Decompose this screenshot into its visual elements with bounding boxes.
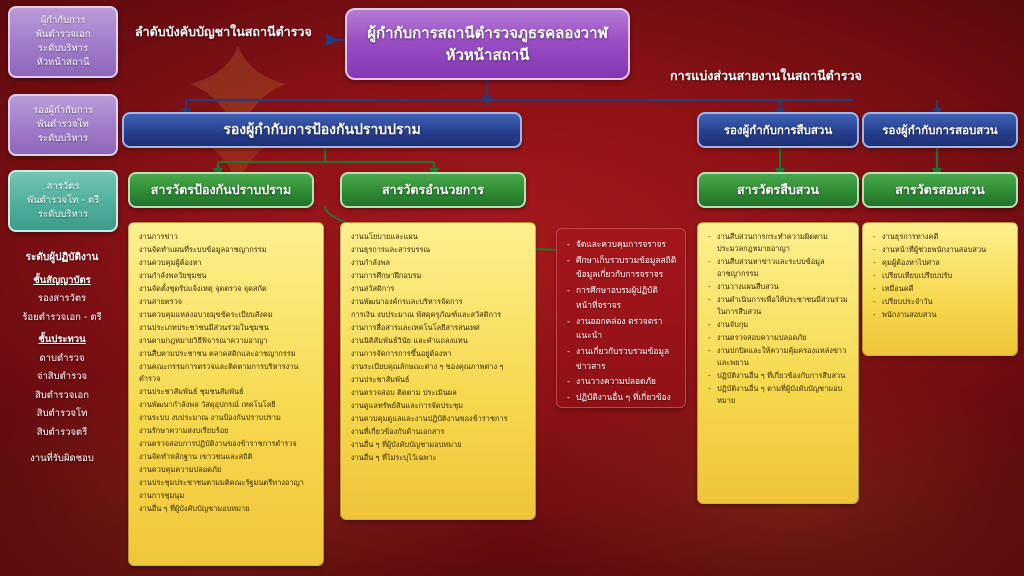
left-list-header: ระดับผู้ปฏิบัติงาน	[6, 248, 118, 268]
investigation-item: งานปกปิดและให้ความคุ้มครองแหล่งข่าวและพย…	[708, 345, 850, 369]
prevention-item: งานควบคุมความปลอดภัย	[139, 464, 315, 476]
prevention-item: งานจัดทำแผนที่ระบบข้อมูลอาชญากรรม	[139, 244, 315, 256]
rank-1-line-1: ผู้กำกับการ	[41, 14, 86, 28]
left-operator-list: ระดับผู้ปฏิบัติงาน ชั้นสัญญาบัตร รองสารว…	[6, 248, 118, 469]
left-list-s2-item-2: สิบตำรวจเอก	[6, 387, 118, 406]
admin-item: งานพัฒนาองค์กรและบริหารจัดการ	[351, 296, 527, 308]
chief-line2: หัวหน้าสถานี	[446, 44, 530, 67]
left-list-s2-item-1: จ่าสิบตำรวจ	[6, 368, 118, 387]
prevention-item: งานประชุมประชาชนตามมติคณะรัฐมนตรีทางอาญา	[139, 477, 315, 489]
panel-traffic-tasks: จัดและควบคุมการจราจร ศึกษาเก็บรวบรวมข้อม…	[556, 228, 686, 408]
prevention-item: งานควบคุมผู้ต้องหา	[139, 257, 315, 269]
inquiry-item: พนักงานสอบสวน	[873, 309, 1009, 321]
admin-item: งานการสื่อสารและเทคโนโลยีสารสนเทศ	[351, 322, 527, 334]
node-deputy-inquiry[interactable]: รองผู้กำกับการสอบสวน	[862, 112, 1018, 148]
chief-line1: ผู้กำกับการสถานีตำรวจภูธรคลองวาฬ	[367, 22, 608, 45]
label-chain-of-command: ลำดับบังคับบัญชาในสถานีตำรวจ	[135, 22, 312, 42]
node-inspector-admin[interactable]: สารวัตรอำนวยการ	[340, 172, 526, 208]
admin-item: งานอื่น ๆ ที่ผู้บังคับบัญชามอบหมาย	[351, 439, 527, 451]
prevention-item: งานอื่น ๆ ที่ผู้บังคับบัญชามอบหมาย	[139, 503, 315, 515]
admin-item: งานระเบียบคุณลักษณะต่าง ๆ ของคุณภาพต่าง …	[351, 361, 527, 373]
panel-admin-tasks: งานนโยบายและแผน งานธุรการและสารบรรณ งานก…	[340, 222, 536, 520]
admin-item: งานการศึกษาฝึกอบรม	[351, 270, 527, 282]
investigation-item: ปฏิบัติงานอื่น ๆ ตามที่ผู้บังคับบัญชามอบ…	[708, 383, 850, 407]
prevention-item: งานการข่าว	[139, 231, 315, 243]
admin-item: งานตรวจสอบ ติดตาม ประเมินผล	[351, 387, 527, 399]
prevention-item: งานจัดทำหลักฐาน เขาวชนและสถิติ	[139, 451, 315, 463]
prevention-item: งานประเภทประชาชนมีส่วนร่วมในชุมชน	[139, 322, 315, 334]
admin-item: งานนิติสัมพันธ์วินัย และคำแถลงแทน	[351, 335, 527, 347]
rank-1-line-2: พันตำรวจเอก	[36, 28, 91, 42]
traffic-item: ปฏิบัติงานอื่น ๆ ที่เกี่ยวข้องกับงานจราจ…	[567, 390, 677, 408]
admin-item: งานนโยบายและแผน	[351, 231, 527, 243]
left-list-s2-item-3: สิบตำรวจโท	[6, 405, 118, 424]
rank-2-line-3: ระดับบริหาร	[38, 132, 88, 146]
investigation-task-list: งานสืบสวนการกระทำความผิดตามประมวลกฎหมายอ…	[708, 231, 850, 407]
node-deputy-investigation[interactable]: รองผู้กำกับการสืบสวน	[697, 112, 859, 148]
inquiry-item: เหมือนคดี	[873, 283, 1009, 295]
traffic-item: งานเกี่ยวกับรวบรวมข้อมูลข่าวสาร	[567, 344, 677, 373]
admin-item: งานธุรการและสารบรรณ	[351, 244, 527, 256]
prevention-item: งานจัดตั้งชุดรับแจ้งเหตุ จุดตรวจ จุดสกัด	[139, 283, 315, 295]
prevention-item: งานตรวจสอบการปฏิบัติงานของข้าราชการตำรวจ	[139, 438, 315, 450]
left-list-s2-item-4: สิบตำรวจตรี	[6, 424, 118, 443]
left-list-section2-title: ชั้นประทวน	[6, 331, 118, 350]
left-list-footer: งานที่รับผิดชอบ	[6, 450, 118, 469]
investigation-item: งานดำเนินการเพื่อให้ประชาชนมีส่วนร่วมในก…	[708, 294, 850, 318]
panel-inquiry-tasks: งานธุรการทางคดี งานหน้าที่ผู้ช่วยพนักงาน…	[862, 222, 1018, 356]
prevention-item: งานคณะกรรมการตรวจและติดตามการบริหารงานตำ…	[139, 361, 315, 385]
node-inspector-inquiry[interactable]: สารวัตรสอบสวน	[862, 172, 1018, 208]
rank-3-line-3: ระดับบริหาร	[38, 208, 88, 222]
rank-2-line-2: พันตำรวจโท	[37, 118, 89, 132]
prevention-item: งานสายตรวจ	[139, 296, 315, 308]
admin-item: งานควบคุมดูแลและงานปฏิบัติงานของข้าราชกา…	[351, 413, 527, 425]
label-division-of-work: การแบ่งส่วนสายงานในสถานีตำรวจ	[670, 66, 862, 86]
inquiry-item: เปรียบเทียบเปรียบปรับ	[873, 270, 1009, 282]
admin-item: งานประชาสัมพันธ์	[351, 374, 527, 386]
inquiry-task-list: งานธุรการทางคดี งานหน้าที่ผู้ช่วยพนักงาน…	[873, 231, 1009, 321]
traffic-item: งานออกคล่อง ตรวจตรา แนะนำ	[567, 314, 677, 343]
node-inspector-investigation[interactable]: สารวัตรสืบสวน	[697, 172, 859, 208]
admin-item: การเงิน งบประมาณ พัสดุครุภัณฑ์และสวัสดิก…	[351, 309, 527, 321]
prevention-item: งานสืบตามประชาชน ตลาดสดิกและอาชญากรรม	[139, 348, 315, 360]
prevention-item: งานประชาสัมพันธ์ ชุมชนสัมพันธ์	[139, 386, 315, 398]
investigation-item: งานตรวจสอบความปลอดภัย	[708, 332, 850, 344]
rank-1-line-4: หัวหน้าสถานี	[36, 56, 89, 70]
investigation-item: งานจับกุม	[708, 319, 850, 331]
prevention-task-list: งานการข่าว งานจัดทำแผนที่ระบบข้อมูลอาชญา…	[139, 231, 315, 515]
panel-investigation-tasks: งานสืบสวนการกระทำความผิดตามประมวลกฎหมายอ…	[697, 222, 859, 504]
left-list-s1-item-0: รองสารวัตร	[6, 290, 118, 309]
investigation-item: งานวางแผนสืบสวน	[708, 281, 850, 293]
investigation-item: งานสืบสวนหาข่าวและระบบข้อมูลอาชญากรรม	[708, 256, 850, 280]
node-inspector-prevention[interactable]: สารวัตรป้องกันปราบปราม	[128, 172, 314, 208]
prevention-item: งานพัฒนากำลังพล วัสดุอุปกรณ์ เทคโนโลยี	[139, 399, 315, 411]
left-list-s2-item-0: ดาบตำรวจ	[6, 350, 118, 369]
prevention-item: งานควบคุมแหล่งอบายมุขขัดระเบียบสังคม	[139, 309, 315, 321]
inquiry-item: งานธุรการทางคดี	[873, 231, 1009, 243]
prevention-item: งานตามกฎหมายวิธีพิจารณาความอาญา	[139, 335, 315, 347]
traffic-task-list: จัดและควบคุมการจราจร ศึกษาเก็บรวบรวมข้อม…	[567, 237, 677, 408]
admin-item: งานดูแลทรัพย์สินและการจัดประชุม	[351, 400, 527, 412]
rank-1-line-3: ระดับบริหาร	[38, 42, 88, 56]
traffic-item: ศึกษาเก็บรวบรวมข้อมูลสถิติข้อมูลเกี่ยวกั…	[567, 253, 677, 282]
admin-item: งานอื่น ๆ ที่ไม่ระบุไว้เฉพาะ	[351, 452, 527, 464]
node-rank-1[interactable]: ผู้กำกับการ พันตำรวจเอก ระดับบริหาร หัวห…	[8, 6, 118, 78]
node-rank-2[interactable]: รองผู้กำกับการ พันตำรวจโท ระดับบริหาร	[8, 94, 118, 156]
admin-item: งานกำลังพล	[351, 257, 527, 269]
left-list-section1-title: ชั้นสัญญาบัตร	[6, 272, 118, 291]
prevention-item: งานรักษาความสงบเรียบร้อย	[139, 425, 315, 437]
node-chief[interactable]: ผู้กำกับการสถานีตำรวจภูธรคลองวาฬ หัวหน้า…	[345, 8, 630, 80]
rank-3-line-2: พันตำรวจโท - ตรี	[27, 194, 99, 208]
panel-prevention-tasks: งานการข่าว งานจัดทำแผนที่ระบบข้อมูลอาชญา…	[128, 222, 324, 566]
rank-3-line-1: สารวัตร	[47, 180, 80, 194]
node-deputy-prevention[interactable]: รองผู้กำกับการป้องกันปราบปราม	[122, 112, 522, 148]
admin-item: งานที่เกี่ยวข้องกับด้านเอกสาร	[351, 426, 527, 438]
rank-2-line-1: รองผู้กำกับการ	[33, 104, 93, 118]
prevention-item: งานระบบ งบประมาณ งานป้องกันปราบปราม	[139, 412, 315, 424]
investigation-item: งานสืบสวนการกระทำความผิดตามประมวลกฎหมายอ…	[708, 231, 850, 255]
inquiry-item: เปรียบประจำวัน	[873, 296, 1009, 308]
left-list-s1-item-1: ร้อยตำรวจเอก - ตรี	[6, 309, 118, 328]
node-rank-3[interactable]: สารวัตร พันตำรวจโท - ตรี ระดับบริหาร	[8, 170, 118, 232]
inquiry-item: คุมผู้ต้องหาไปศาล	[873, 257, 1009, 269]
investigation-item: ปฏิบัติงานอื่น ๆ ที่เกี่ยวข้องกับการสืบส…	[708, 370, 850, 382]
admin-item: งานสวัสดิการ	[351, 283, 527, 295]
traffic-item: จัดและควบคุมการจราจร	[567, 237, 677, 252]
traffic-item: การศึกษาอบรมผู้ปฏิบัติหน้าที่จราจร	[567, 283, 677, 312]
admin-item: งานการจัดการการขึ้นอยู่ต้องหา	[351, 348, 527, 360]
prevention-item: งานการชุมนุม	[139, 490, 315, 502]
admin-task-list: งานนโยบายและแผน งานธุรการและสารบรรณ งานก…	[351, 231, 527, 464]
prevention-item: งานกำลังพลวัยชุมชน	[139, 270, 315, 282]
inquiry-item: งานหน้าที่ผู้ช่วยพนักงานสอบสวน	[873, 244, 1009, 256]
traffic-item: งานวางความปลอดภัย	[567, 374, 677, 389]
